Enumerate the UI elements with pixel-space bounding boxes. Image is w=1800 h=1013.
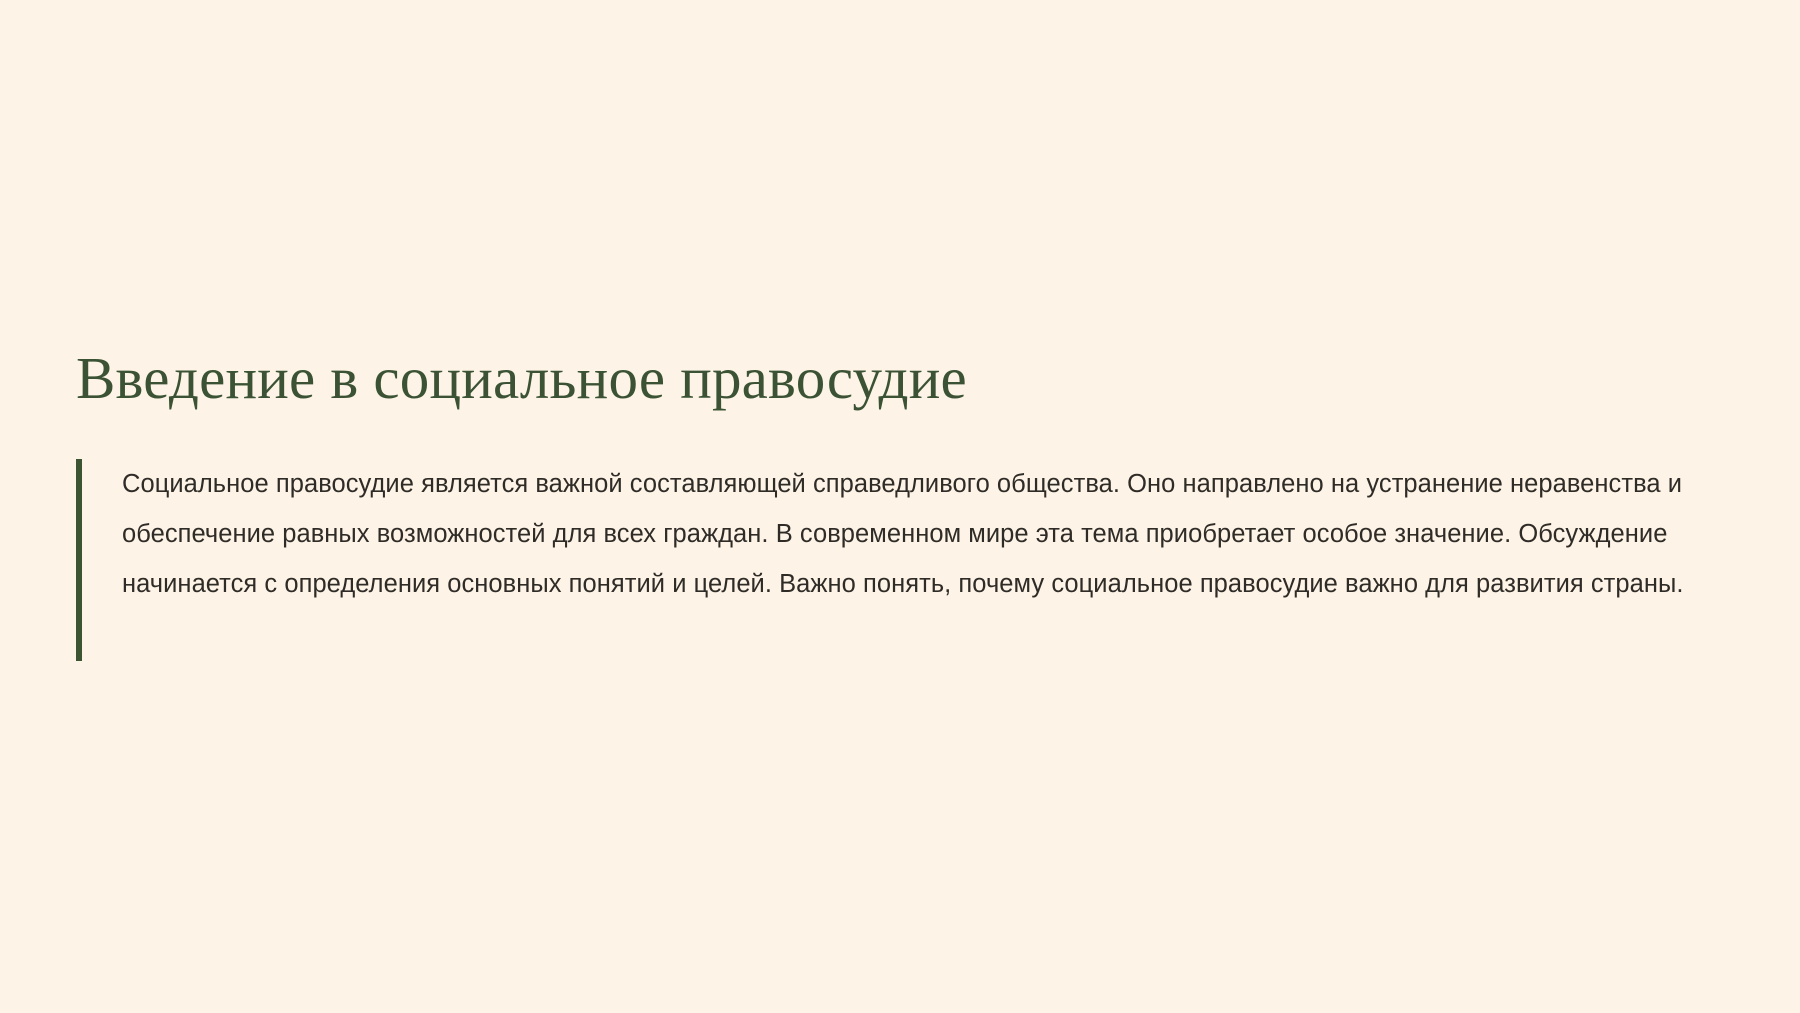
accent-bar	[76, 459, 82, 661]
slide-canvas: Введение в социальное правосудие Социаль…	[0, 0, 1800, 1013]
body-quote-block: Социальное правосудие является важной со…	[76, 459, 1716, 609]
body-paragraph: Социальное правосудие является важной со…	[122, 459, 1697, 609]
slide-content-block: Введение в социальное правосудие Социаль…	[76, 345, 1716, 609]
page-title: Введение в социальное правосудие	[76, 345, 1716, 411]
